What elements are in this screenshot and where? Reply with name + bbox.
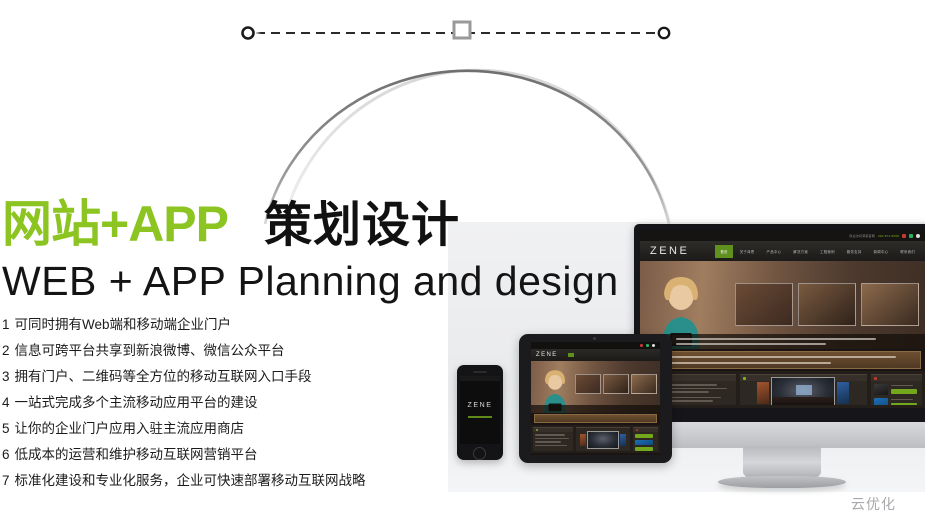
hero-thumbnail[interactable] <box>861 283 919 326</box>
slide-canvas: 网站+APP 策划设计 WEB + APP Planning and desig… <box>0 0 925 529</box>
notice-line <box>651 356 896 358</box>
carousel-main-image[interactable] <box>587 431 619 449</box>
support-panel <box>633 427 658 451</box>
hero-thumbnail[interactable] <box>575 374 601 394</box>
tablet-site-logo: ZENE <box>536 352 558 358</box>
notice-line <box>651 362 831 364</box>
tablet-nav-item[interactable] <box>589 353 602 357</box>
list-item-number: 4 <box>2 396 10 410</box>
list-item: 1 可同时拥有Web端和移动端企业门户 <box>2 318 432 332</box>
tablet-hero-banner <box>531 361 660 413</box>
consult-chip-icon <box>635 440 653 445</box>
hero-thumbnail-strip <box>735 283 919 326</box>
monitor-foot <box>718 476 846 488</box>
consult-chip-icon <box>874 398 888 405</box>
panel-badge-icon <box>874 377 877 380</box>
screen-glare <box>640 230 925 270</box>
phone-screen: ZENE <box>460 376 500 444</box>
carousel-thumb-right[interactable] <box>837 382 849 404</box>
qq-icon[interactable] <box>652 344 655 347</box>
page-title: 网站+APP 策划设计 <box>2 199 460 250</box>
list-item-number: 7 <box>2 474 10 488</box>
list-item-label: 标准化建设和专业化服务，企业可快速部署移动互联网战略 <box>15 474 366 488</box>
hero-thumbnail[interactable] <box>603 374 629 394</box>
panel-badge-icon <box>743 377 746 380</box>
right-circle-handle <box>659 28 669 38</box>
tablet-notice-bar <box>534 414 657 423</box>
list-item: 6 低成本的运营和维护移动互联网营销平台 <box>2 448 432 462</box>
phone-home-button[interactable] <box>473 447 486 460</box>
center-square-handle <box>454 22 470 38</box>
support-panel <box>871 374 922 405</box>
tablet-nav-item[interactable] <box>575 353 588 357</box>
phone-device: ZENE <box>457 365 503 460</box>
weibo-icon[interactable] <box>640 344 643 347</box>
list-item-number: 6 <box>2 448 10 462</box>
tablet-device: ZENE <box>519 334 672 463</box>
news-panel <box>533 427 573 451</box>
panel-badge-icon <box>636 429 638 431</box>
tablet-nav-item[interactable] <box>631 353 644 357</box>
caption-line <box>676 338 876 340</box>
list-item: 2 信息可跨平台共享到新浪微博、微信公众平台 <box>2 344 432 358</box>
phone-speaker-icon <box>473 371 487 373</box>
monitor-chin <box>634 422 925 448</box>
list-item-label: 一站式完成多个主流移动应用平台的建设 <box>15 396 258 410</box>
list-item: 5 让你的企业门户应用入驻主流应用商店 <box>2 422 432 436</box>
list-item: 7 标准化建设和专业化服务，企业可快速部署移动互联网战略 <box>2 474 432 488</box>
list-item-label: 信息可跨平台共享到新浪微博、微信公众平台 <box>15 344 285 358</box>
tablet-nav-item[interactable] <box>617 353 630 357</box>
list-item: 3 拥有门户、二维码等全方位的移动互联网入口手段 <box>2 370 432 384</box>
title-green-part: 网站+APP <box>2 199 228 249</box>
list-item: 4 一站式完成多个主流移动应用平台的建设 <box>2 396 432 410</box>
tablet-nav-item-home[interactable] <box>568 353 574 357</box>
wechat-icon[interactable] <box>646 344 649 347</box>
hero-thumbnail[interactable] <box>735 283 793 326</box>
tablet-content-columns <box>531 425 660 453</box>
panel-badge-icon <box>536 429 538 431</box>
list-item-number: 2 <box>2 344 10 358</box>
tablet-site-nav: ZENE <box>531 349 660 361</box>
hero-thumbnail[interactable] <box>631 374 657 394</box>
phone-accent-line <box>468 416 492 418</box>
hero-caption-bar <box>531 405 660 413</box>
list-item-number: 1 <box>2 318 10 332</box>
tablet-screen: ZENE <box>531 342 660 455</box>
feature-list: 1 可同时拥有Web端和移动端企业门户 2 信息可跨平台共享到新浪微博、微信公众… <box>2 318 432 500</box>
watermark-label: 云优化 <box>851 494 896 514</box>
download-button[interactable] <box>635 434 653 438</box>
site-hero-banner <box>640 261 925 349</box>
monitor-bezel: 欢迎访问泽恩官网 400-871-6699 ZENE 首页 关于泽恩 产品中心 … <box>634 224 925 422</box>
phone-site-logo: ZENE <box>460 402 500 409</box>
list-item-label: 可同时拥有Web端和移动端企业门户 <box>15 318 232 332</box>
tablet-nav-item[interactable] <box>603 353 616 357</box>
list-item-label: 让你的企业门户应用入驻主流应用商店 <box>15 422 245 436</box>
list-item-label: 低成本的运营和维护移动互联网营销平台 <box>15 448 258 462</box>
tablet-site-topbar <box>531 342 660 349</box>
page-subtitle: WEB + APP Planning and design <box>2 259 619 304</box>
download-button[interactable] <box>891 389 917 394</box>
left-handle-glow <box>235 20 261 46</box>
left-circle-handle <box>243 28 254 39</box>
list-item-number: 3 <box>2 370 10 384</box>
hero-caption-bar <box>640 334 925 349</box>
caption-line <box>676 343 826 345</box>
list-item-label: 拥有门户、二维码等全方位的移动互联网入口手段 <box>15 370 312 384</box>
hero-thumbnail[interactable] <box>798 283 856 326</box>
site-content-columns <box>640 371 925 408</box>
list-item-number: 5 <box>2 422 10 436</box>
download-chip-icon <box>874 384 888 395</box>
carousel-thumb-left[interactable] <box>757 382 769 404</box>
consult-button[interactable] <box>891 403 917 405</box>
consult-button[interactable] <box>635 447 653 451</box>
carousel-main-image[interactable] <box>771 377 835 406</box>
carousel-thumb-left[interactable] <box>580 434 586 446</box>
case-showcase-panel <box>740 374 866 405</box>
title-black-part: 策划设计 <box>264 202 460 250</box>
tablet-camera-icon <box>593 337 596 340</box>
case-showcase-panel <box>576 427 631 451</box>
carousel-thumb-right[interactable] <box>620 434 626 446</box>
phone-status-bar <box>460 376 500 381</box>
site-notice-bar <box>644 351 921 369</box>
